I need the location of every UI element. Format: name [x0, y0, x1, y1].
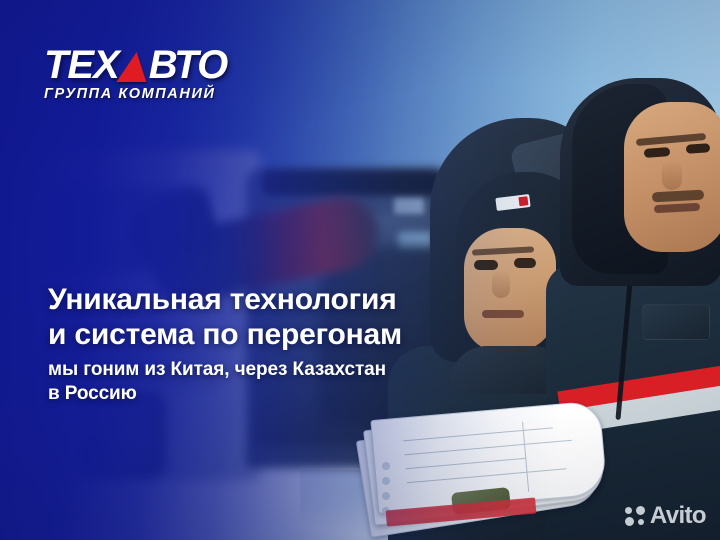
avito-watermark: Avito: [625, 504, 706, 528]
subheadline-line-2: в Россию: [48, 382, 478, 406]
copy-block: Уникальная технология и система по перег…: [48, 282, 478, 406]
subheadline-line-1: мы гоним из Китая, через Казахстан: [48, 359, 386, 380]
logo-text-part1: ТЕХ: [44, 43, 119, 87]
headline-line-1: Уникальная технология: [48, 283, 397, 316]
headline-line-2: и система по перегонам: [48, 317, 478, 352]
promo-banner: ТЕХВТО ГРУППА КОМПАНИЙ Уникальная технол…: [0, 0, 720, 540]
logo-red-a-icon: [117, 48, 151, 82]
subheadline: мы гоним из Китая, через Казахстан в Рос…: [48, 358, 478, 406]
avito-dots-icon: [625, 506, 645, 526]
logo-text-part2: ВТО: [149, 43, 227, 87]
avito-label: Avito: [650, 504, 706, 528]
headline: Уникальная технология и система по перег…: [48, 282, 478, 352]
company-logo[interactable]: ТЕХВТО ГРУППА КОМПАНИЙ: [44, 46, 256, 104]
logo-tagline: ГРУППА КОМПАНИЙ: [44, 86, 256, 102]
logo-wordmark: ТЕХВТО: [44, 46, 256, 84]
